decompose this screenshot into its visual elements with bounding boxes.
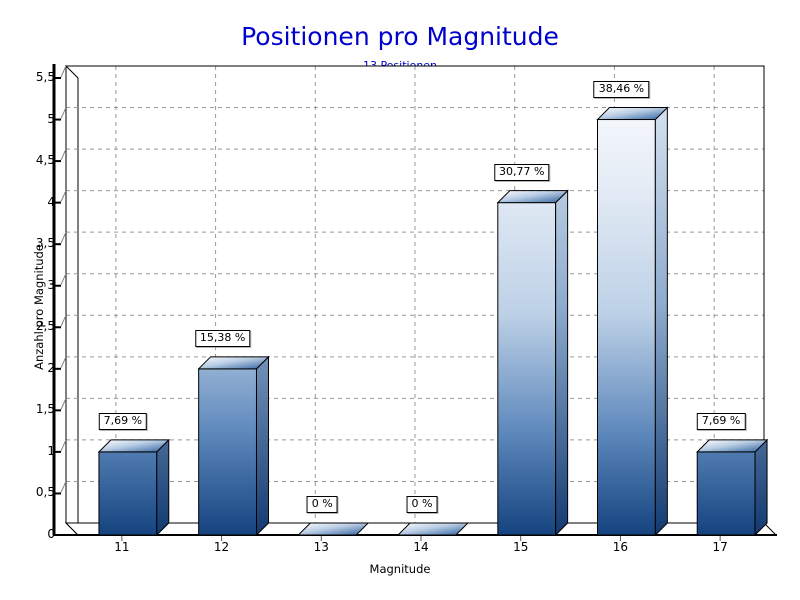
- y-tick-text: 5,5: [15, 70, 55, 84]
- plot-area: [0, 0, 800, 600]
- bar-value-label: 38,46 %: [594, 81, 649, 98]
- x-tick-label: 14: [391, 540, 451, 554]
- y-tick-text: 0,5: [15, 485, 55, 499]
- x-tick-label: 12: [192, 540, 252, 554]
- bar-17: [697, 440, 767, 535]
- y-tick-text: 4: [15, 195, 55, 209]
- y-tick-text: 2: [15, 361, 55, 375]
- y-tick-text: 0: [15, 527, 55, 541]
- x-tick-label: 17: [690, 540, 750, 554]
- plot-walls: [66, 66, 776, 535]
- x-tick-label: 11: [92, 540, 152, 554]
- bar-15: [498, 191, 568, 535]
- bar-13: [298, 523, 368, 535]
- y-tick-text: 1,5: [15, 402, 55, 416]
- bar-value-label: 7,69 %: [99, 413, 147, 430]
- bar-16: [598, 108, 668, 535]
- bar-value-label: 15,38 %: [195, 330, 250, 347]
- bar-value-label: 30,77 %: [494, 164, 549, 181]
- x-tick-label: 13: [291, 540, 351, 554]
- x-tick-label: 16: [590, 540, 650, 554]
- bar-11: [99, 440, 169, 535]
- y-axis-ticks: [54, 66, 66, 535]
- y-tick-text: 2,5: [15, 319, 55, 333]
- bar-14: [398, 523, 468, 535]
- y-tick-text: 5: [15, 112, 55, 126]
- y-tick-text: 1: [15, 444, 55, 458]
- chart-container: Positionen pro Magnitude 13 Positionen A…: [0, 0, 800, 600]
- y-tick-text: 3: [15, 278, 55, 292]
- y-tick-text: 4,5: [15, 153, 55, 167]
- bar-value-label: 0 %: [407, 496, 438, 513]
- bar-value-label: 0 %: [307, 496, 338, 513]
- bar-12: [199, 357, 269, 535]
- x-tick-label: 15: [491, 540, 551, 554]
- y-tick-text: 3,5: [15, 236, 55, 250]
- bar-value-label: 7,69 %: [697, 413, 745, 430]
